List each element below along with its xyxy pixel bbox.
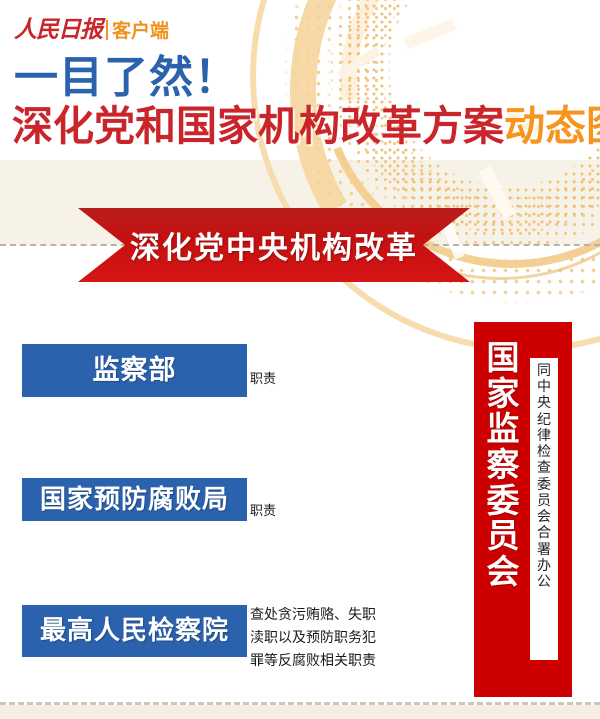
org-box-label: 监察部: [93, 357, 177, 384]
cream-band-bottom: [0, 705, 600, 719]
org-box-yufangfubaiju[interactable]: 国家预防腐败局: [22, 478, 247, 521]
org-duty-yufangfubaiju: 职责: [250, 503, 276, 522]
page-title-sub: 深化党和国家机构改革方案动态图: [12, 106, 600, 147]
section-banner: 深化党中央机构改革: [78, 208, 470, 282]
page-title-sub-orange: 动态图: [504, 102, 600, 150]
org-box-label: 最高人民检察院: [40, 618, 229, 644]
org-box-jianchayuan[interactable]: 最高人民检察院: [22, 605, 247, 657]
org-duty-jianchabu: 职责: [250, 371, 276, 390]
bg-arc-2: [235, 0, 600, 367]
page-title-main: 一目了然！: [14, 56, 239, 100]
bg-plate-1: [404, 19, 457, 50]
org-box-jianchabu[interactable]: 监察部: [22, 344, 247, 397]
banner-label: 深化党中央机构改革: [78, 208, 470, 282]
divider-dashed-bottom: [0, 702, 600, 705]
result-panel[interactable]: 国家监察委员会 同中央纪律检查委员会合署办公: [474, 322, 572, 697]
publisher-logo: 人民日报 客户端: [14, 18, 169, 41]
bg-plate-2: [448, 66, 489, 83]
org-duty-jianchayuan: 查处贪污贿赂、失职 渎职以及预防职务犯 罪等反腐败相关职责: [250, 604, 376, 673]
result-panel-note-text: 同中央纪律检查委员会合署办公: [533, 361, 555, 657]
logo-newspaper-text: 人民日报: [14, 18, 102, 41]
bg-arc-5: [227, 0, 600, 375]
result-panel-title: 国家监察委员会: [482, 340, 524, 589]
logo-divider: [106, 20, 108, 40]
infographic-page: 人民日报 客户端 一目了然！ 深化党和国家机构改革方案动态图 深化党中央机构改革…: [0, 0, 600, 719]
result-panel-note-box: 同中央纪律检查委员会合署办公: [530, 358, 558, 660]
logo-client-text: 客户端: [112, 22, 169, 41]
page-title-sub-red: 深化党和国家机构改革方案: [12, 102, 504, 150]
bg-arc-4: [266, 0, 600, 340]
bg-plate-4: [479, 166, 516, 220]
org-box-label: 国家预防腐败局: [40, 487, 229, 513]
bg-plate-3: [337, 46, 381, 80]
